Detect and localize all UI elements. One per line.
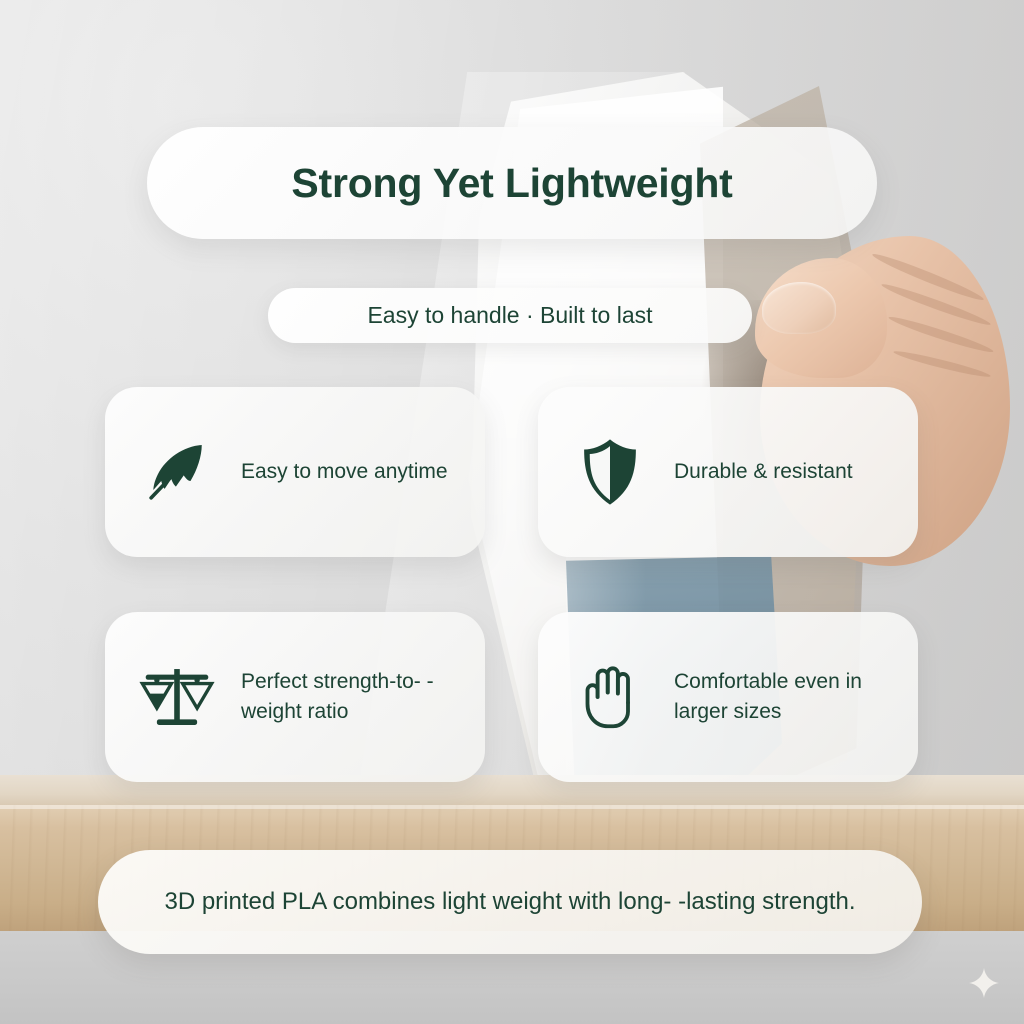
feature-label: Easy to move anytime	[241, 457, 448, 487]
feature-card-strength-to-weight[interactable]: Perfect strength-to- -weight ratio	[105, 612, 485, 782]
feature-label: Perfect strength-to- -weight ratio	[241, 667, 463, 728]
feature-card-easy-to-move[interactable]: Easy to move anytime	[105, 387, 485, 557]
feature-label: Comfortable even in larger sizes	[674, 667, 896, 728]
footer-text: 3D printed PLA combines light weight wit…	[164, 885, 855, 919]
footer-banner: 3D printed PLA combines light weight wit…	[98, 850, 922, 954]
open-hand-icon	[572, 659, 648, 735]
feature-card-comfortable[interactable]: Comfortable even in larger sizes	[538, 612, 918, 782]
balance-scale-icon	[139, 659, 215, 735]
feature-label: Durable & resistant	[674, 457, 853, 487]
feature-card-durable[interactable]: Durable & resistant	[538, 387, 918, 557]
shield-icon	[572, 434, 648, 510]
feather-icon	[139, 434, 215, 510]
infographic-overlay: Strong Yet Lightweight Easy to handle · …	[0, 0, 1024, 1024]
sparkle-icon	[967, 967, 1001, 1001]
